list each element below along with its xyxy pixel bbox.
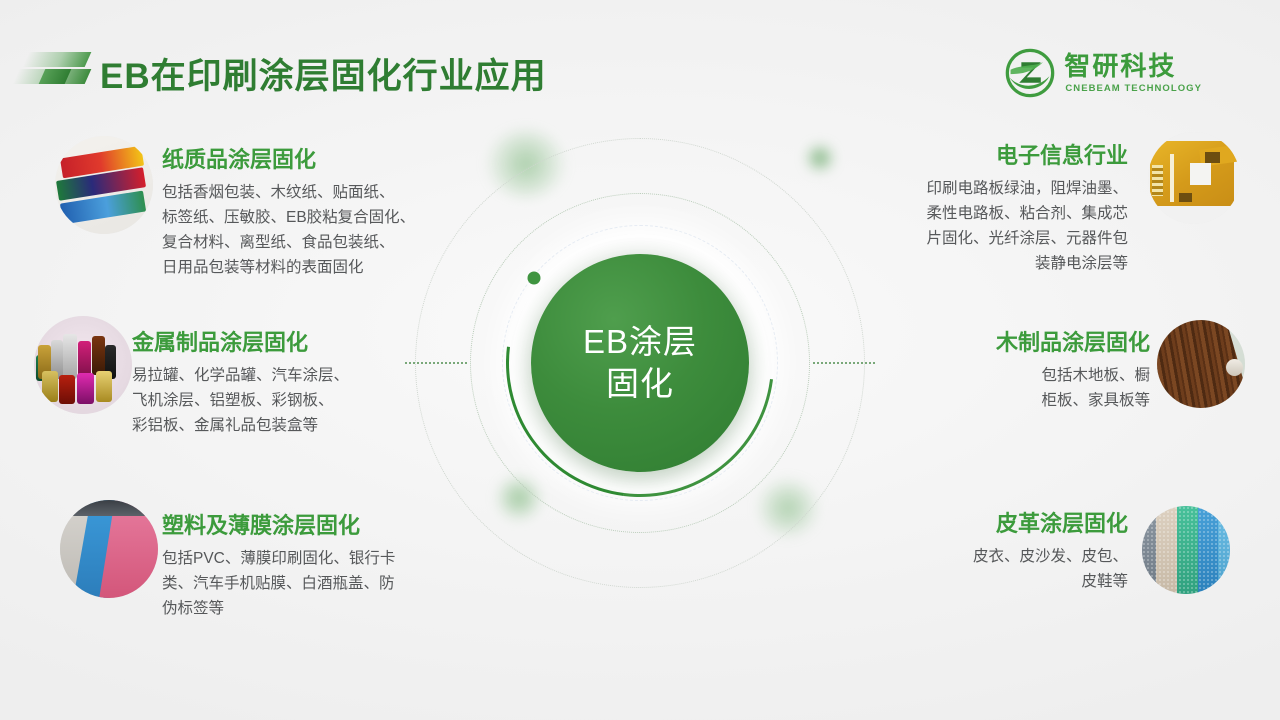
feature-body: 包括木地板、橱 柜板、家具板等 <box>920 363 1150 413</box>
thumbnail-flexible-pcb <box>1148 132 1240 224</box>
feature-item-wood: 木制品涂层固化 包括木地板、橱 柜板、家具板等 <box>920 325 1150 413</box>
feature-body: 印刷电路板绿油，阻焊油墨、 柔性电路板、粘合剂、集成芯 片固化、光纤涂层、元器件… <box>828 176 1128 276</box>
thumbnail-plastic-film <box>60 500 158 598</box>
company-logo: 智研科技 CNEBEAM TECHNOLOGY <box>1003 46 1202 100</box>
thumbnail-metal-foil <box>34 316 132 414</box>
slide-header: EB在印刷涂层固化行业应用 智研科技 CNEBEAM TECHNOLOGY <box>0 0 1280 118</box>
thumbnail-leather-swatches <box>1142 506 1230 594</box>
feature-item-plastic: 塑料及薄膜涂层固化 包括PVC、薄膜印刷固化、银行卡 类、汽车手机贴膜、白酒瓶盖… <box>162 508 482 621</box>
feature-body: 包括香烟包装、木纹纸、贴面纸、 标签纸、压敏胶、EB胶粘复合固化、 复合材料、离… <box>162 180 482 280</box>
slide-canvas: EB在印刷涂层固化行业应用 智研科技 CNEBEAM TECHNOLOGY <box>0 0 1280 720</box>
center-label: EB涂层 固化 <box>583 321 697 405</box>
cnebeam-logo-icon <box>1003 46 1057 100</box>
feature-title: 塑料及薄膜涂层固化 <box>162 508 482 540</box>
feature-item-paper: 纸质品涂层固化 包括香烟包装、木纹纸、贴面纸、 标签纸、压敏胶、EB胶粘复合固化… <box>162 142 482 280</box>
thumbnail-paper-packaging <box>55 136 153 234</box>
feature-title: 纸质品涂层固化 <box>162 142 482 174</box>
feature-item-electronics: 电子信息行业 印刷电路板绿油，阻焊油墨、 柔性电路板、粘合剂、集成芯 片固化、光… <box>828 138 1128 276</box>
arc-end-dot <box>528 272 541 285</box>
feature-title: 金属制品涂层固化 <box>132 325 452 357</box>
feature-body: 易拉罐、化学品罐、汽车涂层、 飞机涂层、铝塑板、彩钢板、 彩铝板、金属礼品包装盒… <box>132 363 452 438</box>
center-circle: EB涂层 固化 <box>531 254 749 472</box>
feature-body: 包括PVC、薄膜印刷固化、银行卡 类、汽车手机贴膜、白酒瓶盖、防 伪标签等 <box>162 546 482 621</box>
thumbnail-wood-veneer <box>1157 320 1245 408</box>
feature-body: 皮衣、皮沙发、皮包、 皮鞋等 <box>898 544 1128 594</box>
feature-item-leather: 皮革涂层固化 皮衣、皮沙发、皮包、 皮鞋等 <box>898 506 1128 594</box>
feature-title: 电子信息行业 <box>828 138 1128 170</box>
feature-title: 皮革涂层固化 <box>898 506 1128 538</box>
title-decoration-icon <box>16 52 94 96</box>
page-title: EB在印刷涂层固化行业应用 <box>100 48 547 99</box>
logo-company-name-cn: 智研科技 <box>1064 53 1202 79</box>
feature-item-metal: 金属制品涂层固化 易拉罐、化学品罐、汽车涂层、 飞机涂层、铝塑板、彩钢板、 彩铝… <box>132 325 452 438</box>
logo-company-name-en: CNEBEAM TECHNOLOGY <box>1065 84 1202 94</box>
feature-title: 木制品涂层固化 <box>920 325 1150 357</box>
